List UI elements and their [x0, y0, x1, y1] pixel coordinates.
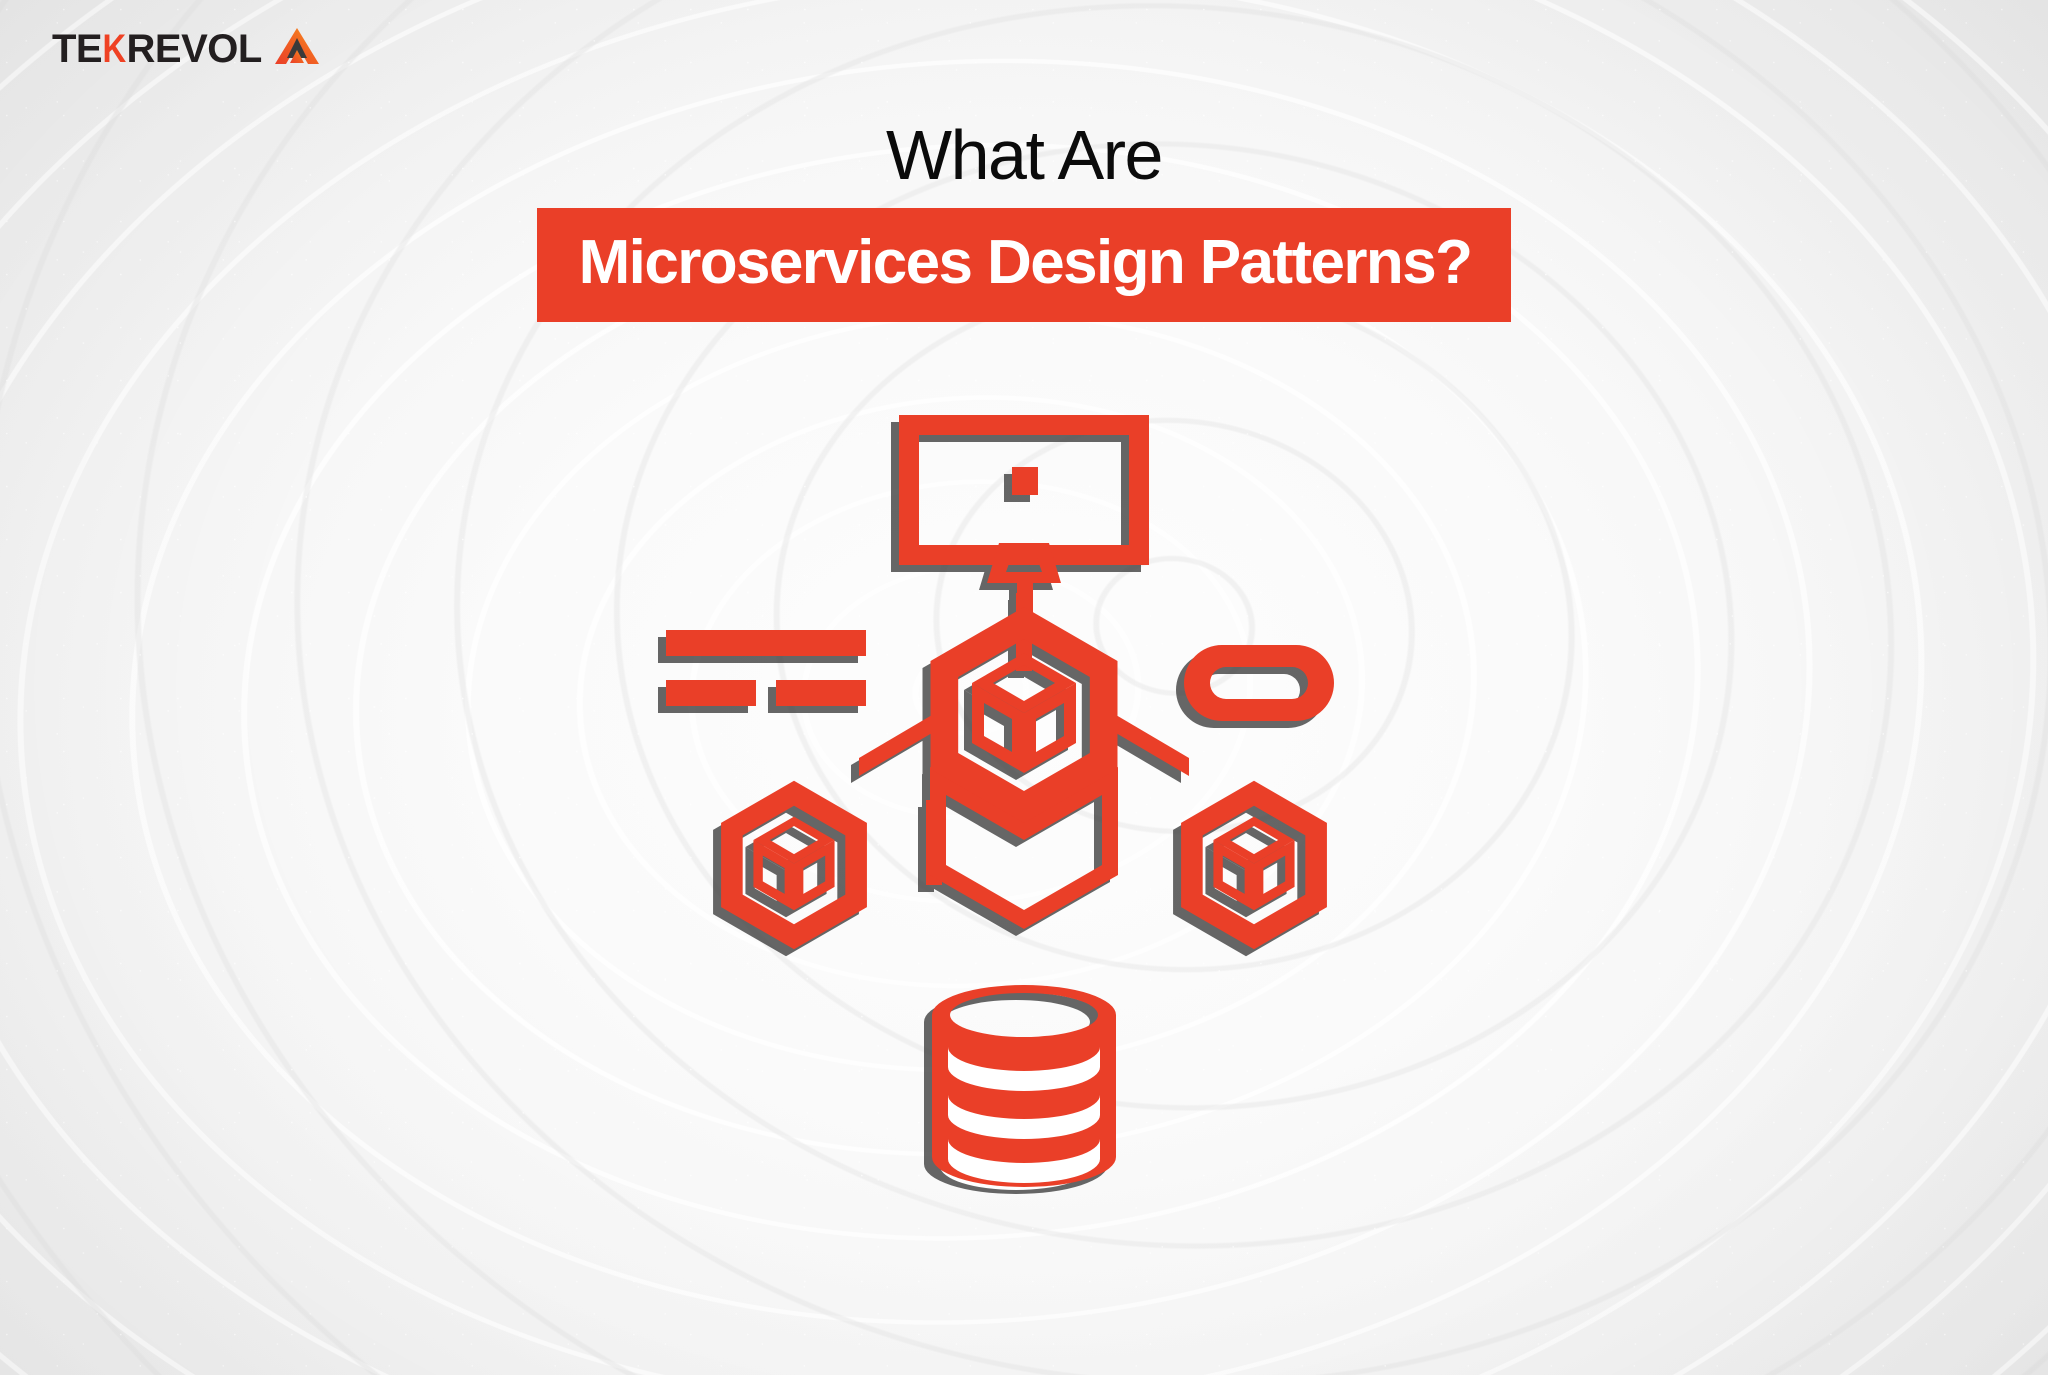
title-group: What Are Microservices Design Patterns? [0, 120, 2048, 322]
pill-shape-icon [1184, 645, 1334, 721]
brand-wordmark-part-1: TE [52, 29, 102, 69]
poster-canvas: TEKREVOL What Are Microservices Design P [0, 0, 2048, 1375]
right-hexagon-cube-icon [1181, 781, 1327, 949]
monitor-screen-icon [899, 415, 1149, 627]
microservices-illustration [644, 415, 1404, 1245]
page-title-line-1: What Are [0, 120, 2048, 190]
database-cylinder-icon [932, 985, 1116, 1187]
brand-wordmark-k-chevron: K [103, 29, 126, 69]
title-banner-wrapper: Microservices Design Patterns? [0, 208, 2048, 322]
page-title-line-2-banner: Microservices Design Patterns? [537, 208, 1512, 322]
tekrevol-triangle-mark-icon [274, 26, 320, 71]
center-hexagon-cube-icon [930, 607, 1118, 823]
brand-wordmark-part-2: REVOL [127, 29, 262, 69]
brand-wordmark: TEKREVOL [52, 29, 262, 69]
document-lines-icon [666, 630, 866, 706]
left-hexagon-cube-icon [721, 781, 867, 949]
brand-logo[interactable]: TEKREVOL [52, 26, 320, 71]
